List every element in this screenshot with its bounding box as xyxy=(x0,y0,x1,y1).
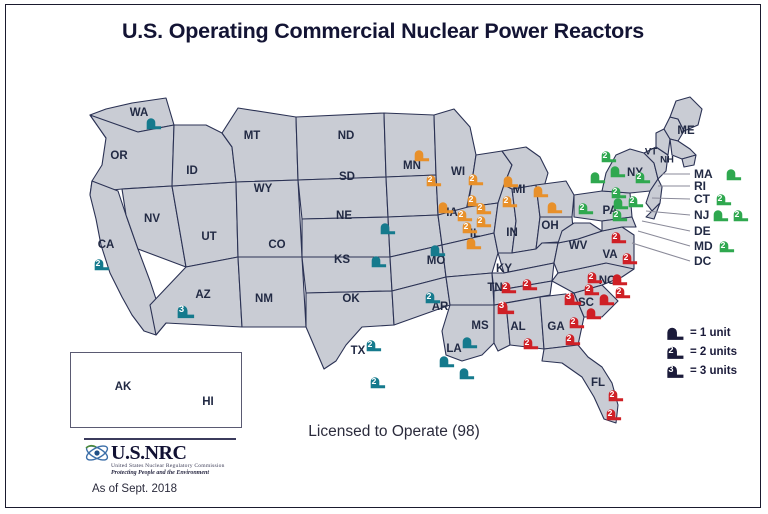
nrc-wordmark: U.S.NRC xyxy=(84,442,244,464)
state-label-wv: WV xyxy=(569,240,588,252)
poster-page: U.S. Operating Commercial Nuclear Power … xyxy=(5,4,761,508)
state-label-or: OR xyxy=(110,150,127,162)
reactor-marker-nc: 2 xyxy=(615,285,632,299)
state-label-nh: NH xyxy=(660,155,674,166)
callout-label-ri: RI xyxy=(694,179,706,193)
nrc-seal-icon xyxy=(84,442,110,464)
state-label-ga: GA xyxy=(547,321,564,333)
state-label-vt: VT xyxy=(645,147,657,158)
callout-label-ct: CT xyxy=(694,192,710,206)
reactor-marker-wi: 2 xyxy=(468,172,485,186)
alaska-hawaii-inset-frame xyxy=(70,352,242,428)
reactor-marker-ne xyxy=(380,221,397,235)
logo-divider xyxy=(84,438,236,440)
reactor-marker-ny: 2 xyxy=(628,194,645,208)
reactor-marker-ga: 2 xyxy=(565,332,582,346)
licensed-count-caption: Licensed to Operate (98) xyxy=(308,423,479,441)
legend-unit-count: 2 xyxy=(666,346,676,355)
reactor-marker-ny: 2 xyxy=(601,149,618,163)
state-label-me: ME xyxy=(677,125,694,137)
state-label-nm: NM xyxy=(255,293,273,305)
reactor-marker-mi xyxy=(503,174,520,188)
state-label-ky: KY xyxy=(496,263,512,275)
state-label-ca: CA xyxy=(98,239,115,251)
state-label-co: CO xyxy=(268,239,285,251)
reactor-marker-fl: 2 xyxy=(608,388,625,402)
reactor-marker-il xyxy=(466,236,483,250)
inset-state-label-hi: HI xyxy=(202,396,214,408)
inset-state-label-ak: AK xyxy=(115,381,132,393)
state-label-id: ID xyxy=(186,165,198,177)
reactor-marker-md: 2 xyxy=(719,239,736,253)
reactor-marker-la xyxy=(459,366,476,380)
as-of-date: As of Sept. 2018 xyxy=(92,483,244,495)
reactor-marker-oh xyxy=(547,200,564,214)
reactor-marker-pa: 2 xyxy=(578,201,595,215)
reactor-marker-sc xyxy=(586,306,603,320)
reactor-marker-nc xyxy=(612,272,629,286)
callout-label-nj: NJ xyxy=(694,208,709,222)
reactor-marker-ca: 2 xyxy=(94,257,111,271)
reactor-marker-va: 2 xyxy=(611,230,628,244)
legend-label: = 1 unit xyxy=(690,327,731,339)
state-label-in: IN xyxy=(506,227,518,239)
legend: = 1 unit2= 2 units3= 3 units xyxy=(666,323,737,380)
reactor-marker-wa xyxy=(146,116,163,130)
reactor-marker-tn: 2 xyxy=(501,280,518,294)
callout-label-de: DE xyxy=(694,224,711,238)
legend-label: = 2 units xyxy=(690,346,737,358)
reactor-marker-mn: 2 xyxy=(426,173,443,187)
reactor-marker-ia xyxy=(438,200,455,214)
reactor-marker-tn: 2 xyxy=(522,277,539,291)
state-label-tx: TX xyxy=(351,345,366,357)
reactor-dome-icon: 2 xyxy=(666,344,685,360)
reactor-marker-va: 2 xyxy=(622,251,639,265)
state-label-az: AZ xyxy=(195,289,210,301)
callout-label-dc: DC xyxy=(694,254,711,268)
reactor-marker-nj: 2 xyxy=(733,208,750,222)
reactor-marker-tx: 2 xyxy=(366,338,383,352)
reactor-marker-tx: 2 xyxy=(370,375,387,389)
state-label-al: AL xyxy=(510,321,525,333)
nrc-wordmark-text: U.S.NRC xyxy=(111,443,186,463)
legend-row-3: 3= 3 units xyxy=(666,361,737,380)
reactor-marker-ct: 2 xyxy=(716,192,733,206)
reactor-marker-mi xyxy=(533,184,550,198)
callout-label-md: MD xyxy=(694,239,713,253)
reactor-marker-ar: 2 xyxy=(425,290,442,304)
reactor-marker-al: 2 xyxy=(523,336,540,350)
state-label-oh: OH xyxy=(541,220,558,232)
reactor-marker-sc xyxy=(599,292,616,306)
reactor-marker-al: 3 xyxy=(496,299,516,315)
reactor-marker-sc: 3 xyxy=(563,290,583,306)
reactor-marker-pa: 2 xyxy=(612,208,629,222)
nrc-logo-block: U.S.NRC United States Nuclear Regulatory… xyxy=(84,438,244,495)
state-label-va: VA xyxy=(602,249,617,261)
state-label-ne: NE xyxy=(336,210,352,222)
reactor-marker-il: 2 xyxy=(476,201,493,215)
reactor-marker-ny xyxy=(590,170,607,184)
nrc-agency-name: United States Nuclear Regulatory Commiss… xyxy=(111,463,244,469)
reactor-marker-ny xyxy=(610,164,627,178)
legend-row-1: = 1 unit xyxy=(666,323,737,342)
legend-row-2: 2= 2 units xyxy=(666,342,737,361)
state-label-ks: KS xyxy=(334,254,350,266)
state-label-ut: UT xyxy=(201,231,216,243)
state-label-sd: SD xyxy=(339,171,355,183)
state-label-mt: MT xyxy=(244,130,261,142)
reactor-marker-mo xyxy=(430,243,447,257)
reactor-marker-ga: 2 xyxy=(569,315,586,329)
reactor-marker-fl: 2 xyxy=(606,407,623,421)
reactor-marker-ny: 2 xyxy=(635,170,652,184)
legend-label: = 3 units xyxy=(690,365,737,377)
state-label-ok: OK xyxy=(342,293,359,305)
reactor-marker-az: 3 xyxy=(176,303,196,319)
state-label-wi: WI xyxy=(451,166,465,178)
legend-unit-count: 3 xyxy=(666,365,676,374)
state-label-nd: ND xyxy=(338,130,355,142)
reactor-marker-ma xyxy=(726,167,743,181)
reactor-dome-icon xyxy=(666,325,685,341)
state-label-nv: NV xyxy=(144,213,160,225)
reactor-marker-mi: 2 xyxy=(502,194,519,208)
reactor-marker-ms xyxy=(462,335,479,349)
state-label-ms: MS xyxy=(471,320,488,332)
reactor-marker-la xyxy=(439,354,456,368)
reactor-marker-il: 2 xyxy=(462,220,479,234)
nrc-tagline: Protecting People and the Environment xyxy=(111,470,244,476)
reactor-dome-icon: 3 xyxy=(666,363,685,379)
reactor-marker-nj xyxy=(713,208,730,222)
reactor-marker-mn xyxy=(414,148,431,162)
state-label-wy: WY xyxy=(254,183,273,195)
state-label-fl: FL xyxy=(591,377,605,389)
reactor-marker-ks xyxy=(371,254,388,268)
